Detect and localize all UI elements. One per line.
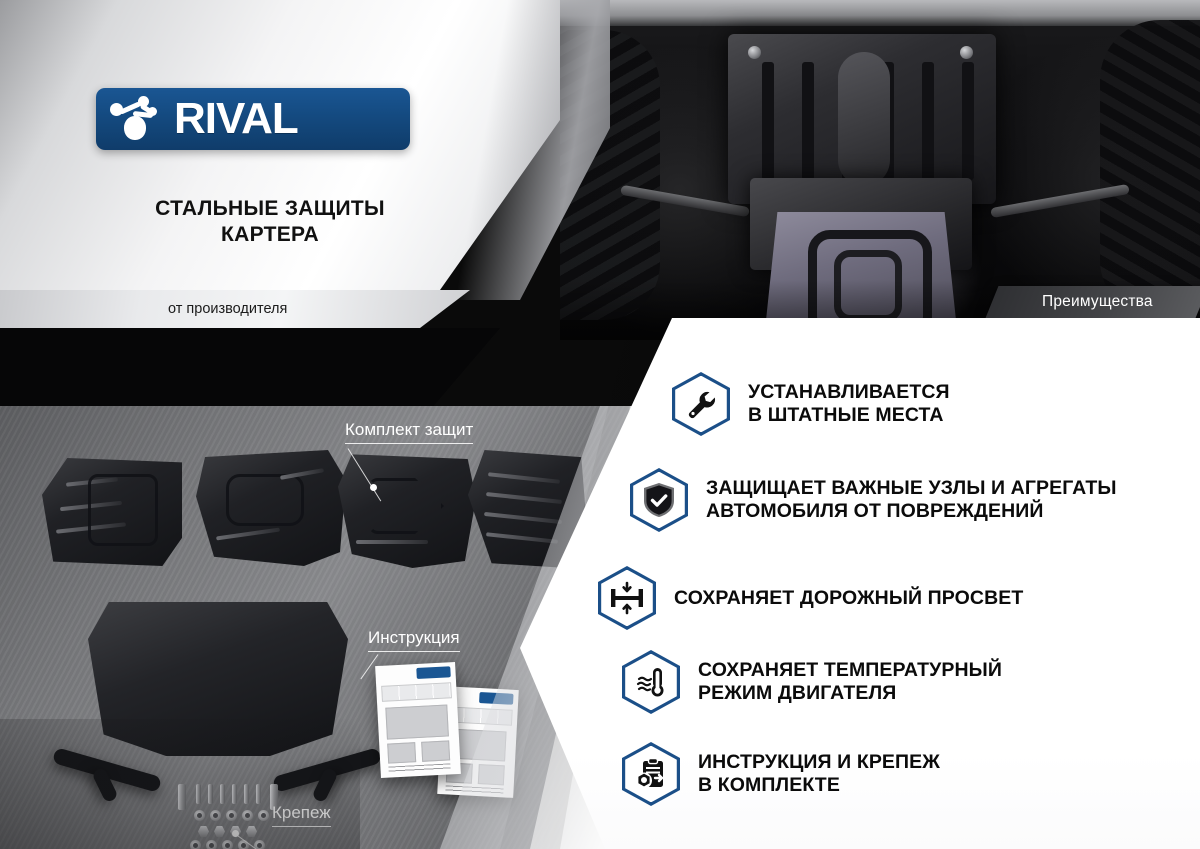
clipboard-bolt-icon bbox=[622, 742, 680, 806]
skid-plate-item bbox=[338, 452, 476, 568]
sheet-diagram bbox=[385, 704, 449, 739]
molecule-icon bbox=[108, 94, 172, 144]
kit-callout: Комплект защит bbox=[345, 420, 473, 444]
rival-logo: RIVAL bbox=[96, 88, 410, 150]
benefit-line-1: ИНСТРУКЦИЯ И КРЕПЕЖ bbox=[698, 751, 940, 773]
benefit-text: СОХРАНЯЕТ ДОРОЖНЫЙ ПРОСВЕТ bbox=[674, 587, 1023, 610]
benefit-line-2: АВТОМОБИЛЯ ОТ ПОВРЕЖДЕНИЙ bbox=[706, 500, 1117, 523]
rival-logo-wordmark: RIVAL bbox=[174, 94, 298, 144]
thermometer-icon bbox=[622, 650, 680, 714]
sheet-photo bbox=[421, 740, 450, 761]
mount-bolt bbox=[748, 46, 761, 59]
mount-bolt bbox=[960, 46, 973, 59]
sheet-logo bbox=[416, 666, 451, 679]
main-skid-plate bbox=[88, 602, 348, 756]
hero-subtitle-band: от производителя bbox=[0, 290, 470, 328]
ground-clearance-icon bbox=[598, 566, 656, 630]
benefit-text: ИНСТРУКЦИЯ И КРЕПЕЖ В КОМПЛЕКТЕ bbox=[698, 751, 940, 797]
benefit-text: СОХРАНЯЕТ ТЕМПЕРАТУРНЫЙ РЕЖИМ ДВИГАТЕЛЯ bbox=[698, 659, 1002, 705]
advantages-banner-label: Преимущества bbox=[1042, 293, 1153, 311]
benefit-line-1: СОХРАНЯЕТ ДОРОЖНЫЙ ПРОСВЕТ bbox=[674, 587, 1023, 609]
benefit-line-1: ЗАЩИЩАЕТ ВАЖНЫЕ УЗЛЫ И АГРЕГАТЫ bbox=[706, 477, 1117, 499]
benefit-item-temperature: СОХРАНЯЕТ ТЕМПЕРАТУРНЫЙ РЕЖИМ ДВИГАТЕЛЯ bbox=[622, 650, 1182, 714]
fasteners-callout-label: Крепеж bbox=[272, 803, 331, 822]
hero-panel bbox=[0, 0, 560, 340]
instruction-sheet-front bbox=[375, 662, 461, 778]
benefit-item-installation: УСТАНАВЛИВАЕТСЯ В ШТАТНЫЕ МЕСТА bbox=[672, 372, 1192, 436]
instruction-callout-label: Инструкция bbox=[368, 628, 460, 647]
tire-left bbox=[560, 30, 660, 320]
benefit-line-2: В ШТАТНЫЕ МЕСТА bbox=[748, 404, 950, 427]
wrench-icon bbox=[672, 372, 730, 436]
sheet-text-block bbox=[388, 763, 450, 773]
skid-plate-item bbox=[196, 450, 346, 566]
benefit-item-clearance: СОХРАНЯЕТ ДОРОЖНЫЙ ПРОСВЕТ bbox=[598, 566, 1178, 630]
fasteners-callout: Крепеж bbox=[272, 803, 331, 827]
shield-check-icon bbox=[630, 468, 688, 532]
callout-underline bbox=[345, 443, 473, 444]
hero-black-strip bbox=[0, 328, 540, 410]
instruction-callout: Инструкция bbox=[368, 628, 460, 652]
benefit-line-1: СОХРАНЯЕТ ТЕМПЕРАТУРНЫЙ bbox=[698, 659, 1002, 681]
page-title-line-1: СТАЛЬНЫЕ ЗАЩИТЫ bbox=[60, 196, 480, 222]
skid-plate-item bbox=[42, 458, 182, 566]
vehicle-bumper bbox=[560, 0, 1200, 26]
benefit-line-2: В КОМПЛЕКТЕ bbox=[698, 774, 940, 797]
benefit-text: ЗАЩИЩАЕТ ВАЖНЫЕ УЗЛЫ И АГРЕГАТЫ АВТОМОБИ… bbox=[706, 477, 1117, 523]
page-title: СТАЛЬНЫЕ ЗАЩИТЫ КАРТЕРА bbox=[60, 196, 480, 247]
benefit-item-kit-included: ИНСТРУКЦИЯ И КРЕПЕЖ В КОМПЛЕКТЕ bbox=[622, 742, 1182, 806]
sheet-table bbox=[381, 682, 452, 702]
hero-subtitle: от производителя bbox=[168, 301, 287, 317]
benefit-line-2: РЕЖИМ ДВИГАТЕЛЯ bbox=[698, 682, 1002, 705]
kit-callout-label: Комплект защит bbox=[345, 420, 473, 439]
page-title-line-2: КАРТЕРА bbox=[60, 222, 480, 248]
tire-right bbox=[1100, 20, 1200, 320]
benefit-line-1: УСТАНАВЛИВАЕТСЯ bbox=[748, 381, 950, 403]
advantages-banner: Преимущества bbox=[986, 286, 1200, 318]
infographic-root: Преимущества RIVAL СТАЛЬНЫЕ ЗАЩИТЫ КАРТЕ… bbox=[0, 0, 1200, 849]
benefit-item-protection: ЗАЩИЩАЕТ ВАЖНЫЕ УЗЛЫ И АГРЕГАТЫ АВТОМОБИ… bbox=[630, 468, 1190, 532]
kit-callout-dot bbox=[370, 484, 377, 491]
sheet-photo bbox=[387, 742, 416, 763]
callout-underline bbox=[368, 651, 460, 652]
benefit-text: УСТАНАВЛИВАЕТСЯ В ШТАТНЫЕ МЕСТА bbox=[748, 381, 950, 427]
callout-underline bbox=[272, 826, 331, 827]
